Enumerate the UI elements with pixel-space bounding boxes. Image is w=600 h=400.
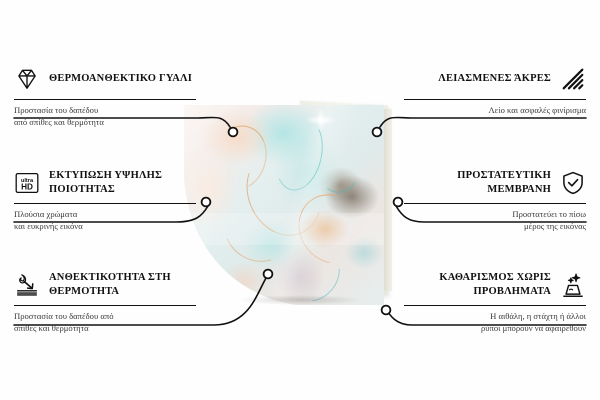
feature-high-quality-print: ultra HD ΕΚΤΥΠΩΣΗ ΥΨΗΛΗΣ ΠΟΙΟΤΗΤΑΣ Πλούσ… xyxy=(14,166,196,232)
svg-text:HD: HD xyxy=(21,183,33,192)
connector-dot-left-1 xyxy=(229,128,238,137)
connector-right-1 xyxy=(380,117,586,127)
feature-subtitle: Προστασία του δαπέδου από σπίθες και θερ… xyxy=(14,104,196,128)
divider xyxy=(404,305,586,306)
divider xyxy=(14,305,196,306)
feature-title: ΕΚΤΥΠΩΣΗ ΥΨΗΛΗΣ ΠΟΙΟΤΗΤΑΣ xyxy=(49,169,196,196)
diagonal-stripes-edges-icon xyxy=(560,66,586,92)
feature-subtitle: Λείο και ασφαλές φινίρισμα xyxy=(404,104,586,116)
feature-title: ΛΕΙΑΣΜΕΝΕΣ ΆΚΡΕΣ xyxy=(404,72,551,86)
feature-title: ΑΝΘΕΚΤΙΚΟΤΗΤΑ ΣΤΗ ΘΕΡΜΟΤΗΤΑ xyxy=(49,271,196,298)
divider xyxy=(404,99,586,100)
sponge-sparkle-cleaning-icon xyxy=(560,272,586,298)
diamond-icon xyxy=(14,66,40,92)
infographic-canvas: ΘΕΡΜΟΑΝΘΕΚΤΙΚΟ ΓΥΑΛΙ Προστασία του δαπέδ… xyxy=(0,0,600,400)
feature-title: ΠΡΟΣΤΑΤΕΥΤΙΚΗ ΜΕΜΒΡΑΝΗ xyxy=(404,169,551,196)
divider xyxy=(14,203,196,204)
connector-dot-left-3 xyxy=(264,270,273,279)
feature-subtitle: Προστατεύει το πίσω μέρος της εικόνας xyxy=(404,208,586,232)
feature-subtitle: Προστασία του δαπέδου από σπίθες και θερ… xyxy=(14,310,196,334)
divider xyxy=(404,203,586,204)
feature-title: ΘΕΡΜΟΑΝΘΕΚΤΙΚΟ ΓΥΑΛΙ xyxy=(49,72,196,86)
connector-dot-right-3 xyxy=(382,306,391,315)
feature-subtitle: Πλούσια χρώματα και ευκρινής εικόνα xyxy=(14,208,196,232)
divider xyxy=(14,99,196,100)
feature-subtitle: Η αιθάλη, η στάχτη ή άλλοι ρύποι μπορούν… xyxy=(404,310,586,334)
feature-heat-resistant-glass: ΘΕΡΜΟΑΝΘΕΚΤΙΚΟ ΓΥΑΛΙ Προστασία του δαπέδ… xyxy=(14,62,196,128)
feature-smoothed-edges: ΛΕΙΑΣΜΕΝΕΣ ΆΚΡΕΣ Λείο και ασφαλές φινίρι… xyxy=(404,62,586,116)
connector-dot-left-2 xyxy=(202,198,211,207)
feature-heat-durability: ΑΝΘΕΚΤΙΚΟΤΗΤΑ ΣΤΗ ΘΕΡΜΟΤΗΤΑ Προστασία το… xyxy=(14,268,196,334)
feature-easy-cleaning: ΚΑΘΑΡΙΣΜΟΣ ΧΩΡΙΣ ΠΡΟΒΛΗΜΑΤΑ Η αιθάλη, η … xyxy=(404,268,586,334)
ultra-hd-icon: ultra HD xyxy=(14,170,40,196)
feature-protective-membrane: ΠΡΟΣΤΑΤΕΥΤΙΚΗ ΜΕΜΒΡΑΝΗ Προστατεύει το πί… xyxy=(404,166,586,232)
connector-dot-right-1 xyxy=(373,128,382,137)
feature-title: ΚΑΘΑΡΙΣΜΟΣ ΧΩΡΙΣ ΠΡΟΒΛΗΜΑΤΑ xyxy=(404,271,551,298)
flame-heat-resistance-icon xyxy=(14,272,40,298)
connector-dot-right-2 xyxy=(394,198,403,207)
shield-check-icon xyxy=(560,170,586,196)
